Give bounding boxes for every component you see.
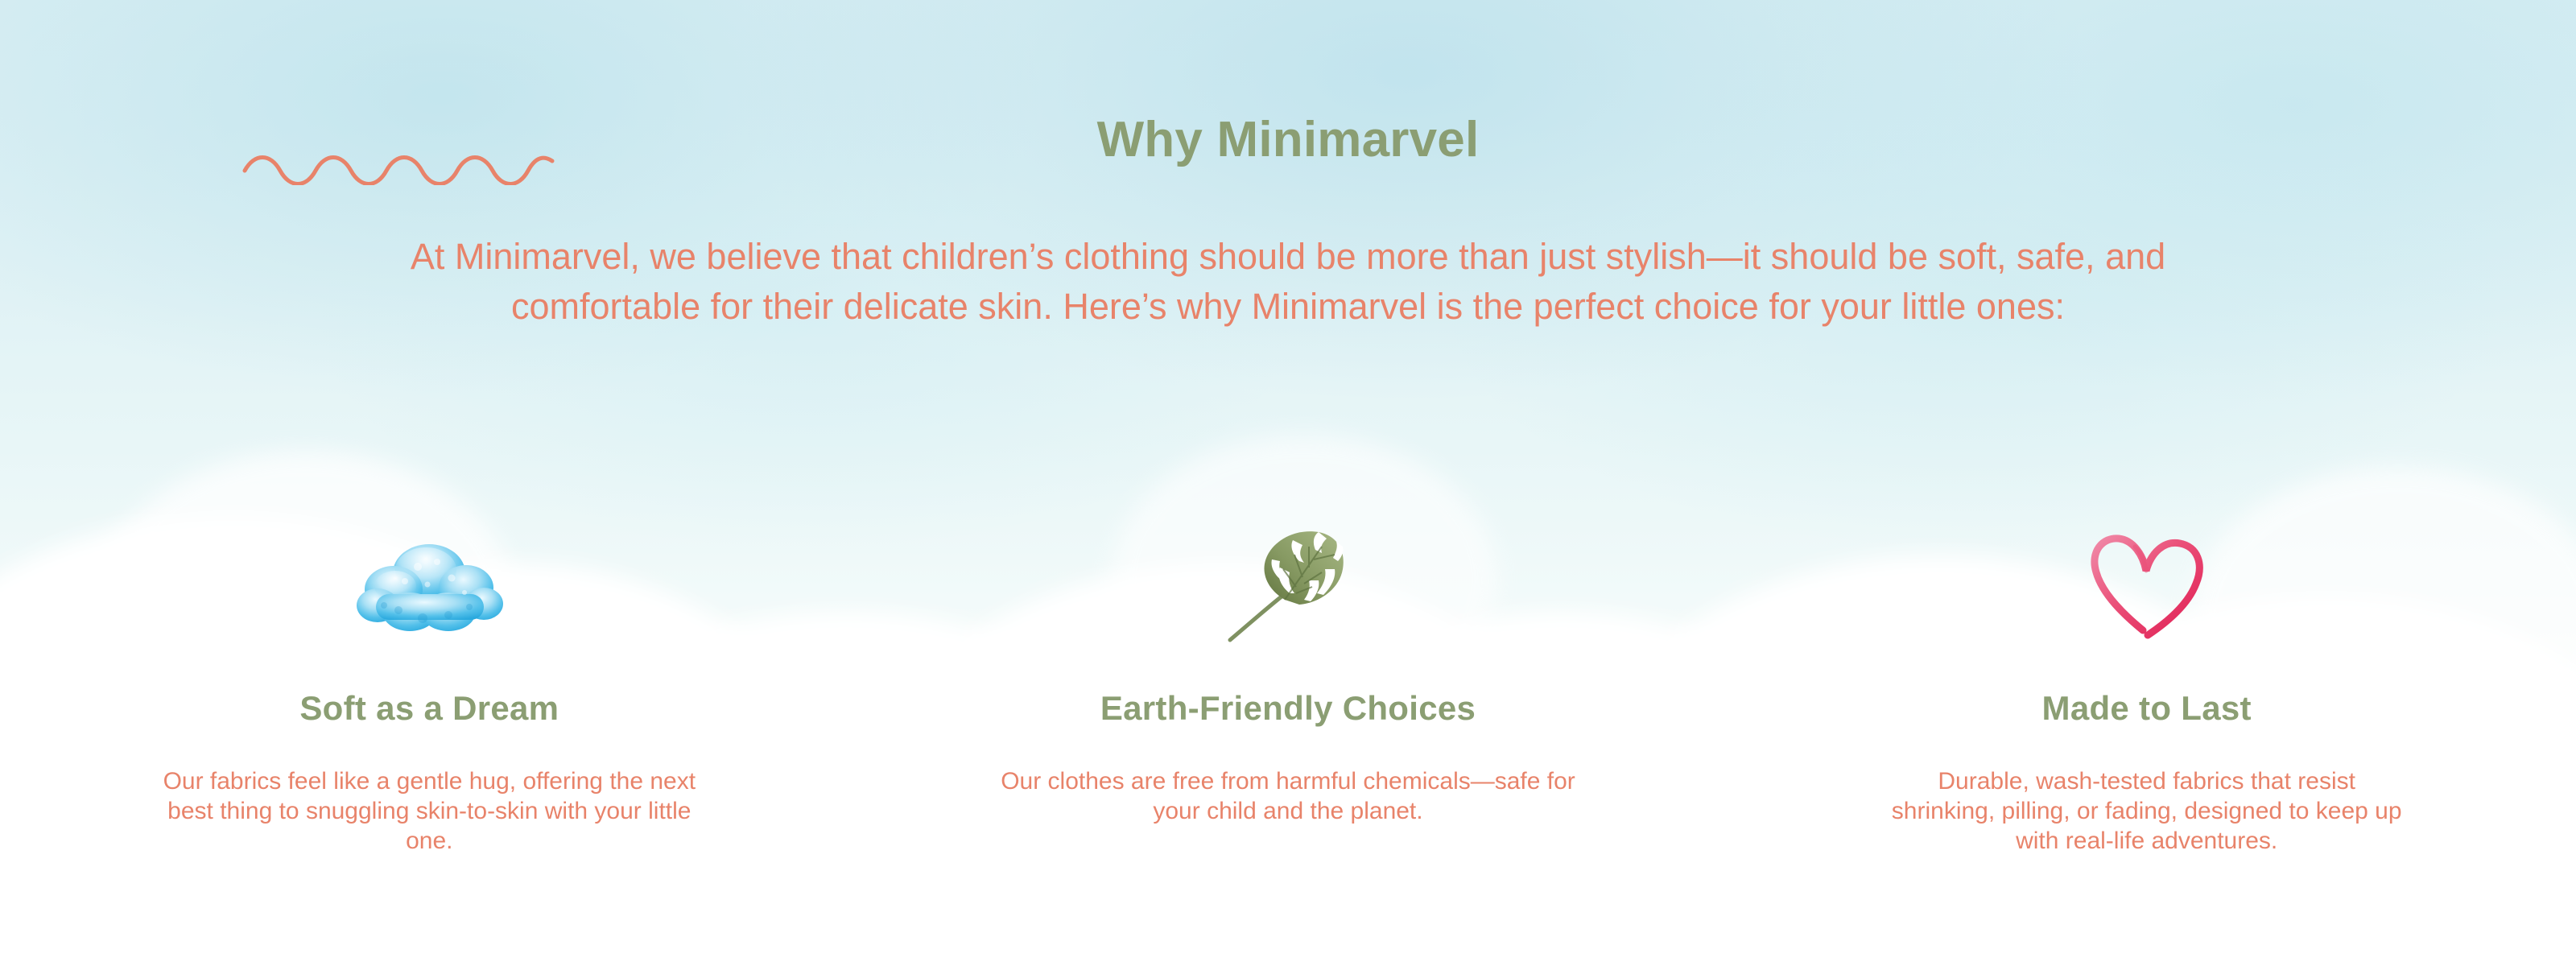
feature-card-earth-friendly-choices: Earth-Friendly Choices Our clothes are f…: [859, 515, 1718, 857]
wavy-underline-icon: [242, 150, 555, 185]
watercolor-cloud-icon: [0, 515, 859, 652]
hand-drawn-heart-icon: [1717, 515, 2576, 652]
feature-card-title: Earth-Friendly Choices: [1100, 689, 1476, 728]
intro-paragraph: At Minimarvel, we believe that children’…: [346, 232, 2230, 331]
feature-card-body: Our fabrics feel like a gentle hug, offe…: [151, 766, 707, 857]
feature-card-soft-as-a-dream: Soft as a Dream Our fabrics feel like a …: [0, 515, 859, 857]
feature-card-body: Our clothes are free from harmful chemic…: [994, 766, 1582, 826]
feature-card-made-to-last: Made to Last Durable, wash-tested fabric…: [1717, 515, 2576, 857]
why-minimarvel-section: Why Minimarvel At Minimarvel, we believe…: [0, 0, 2576, 966]
monstera-leaf-icon: [859, 515, 1718, 652]
feature-card-title: Soft as a Dream: [299, 689, 559, 728]
page-title: Why Minimarvel: [1097, 113, 1480, 167]
feature-card-body: Durable, wash-tested fabrics that resist…: [1889, 766, 2405, 857]
heading-container: Why Minimarvel: [0, 113, 2576, 167]
feature-card-title: Made to Last: [2042, 689, 2252, 728]
feature-card-list: Soft as a Dream Our fabrics feel like a …: [0, 515, 2576, 857]
